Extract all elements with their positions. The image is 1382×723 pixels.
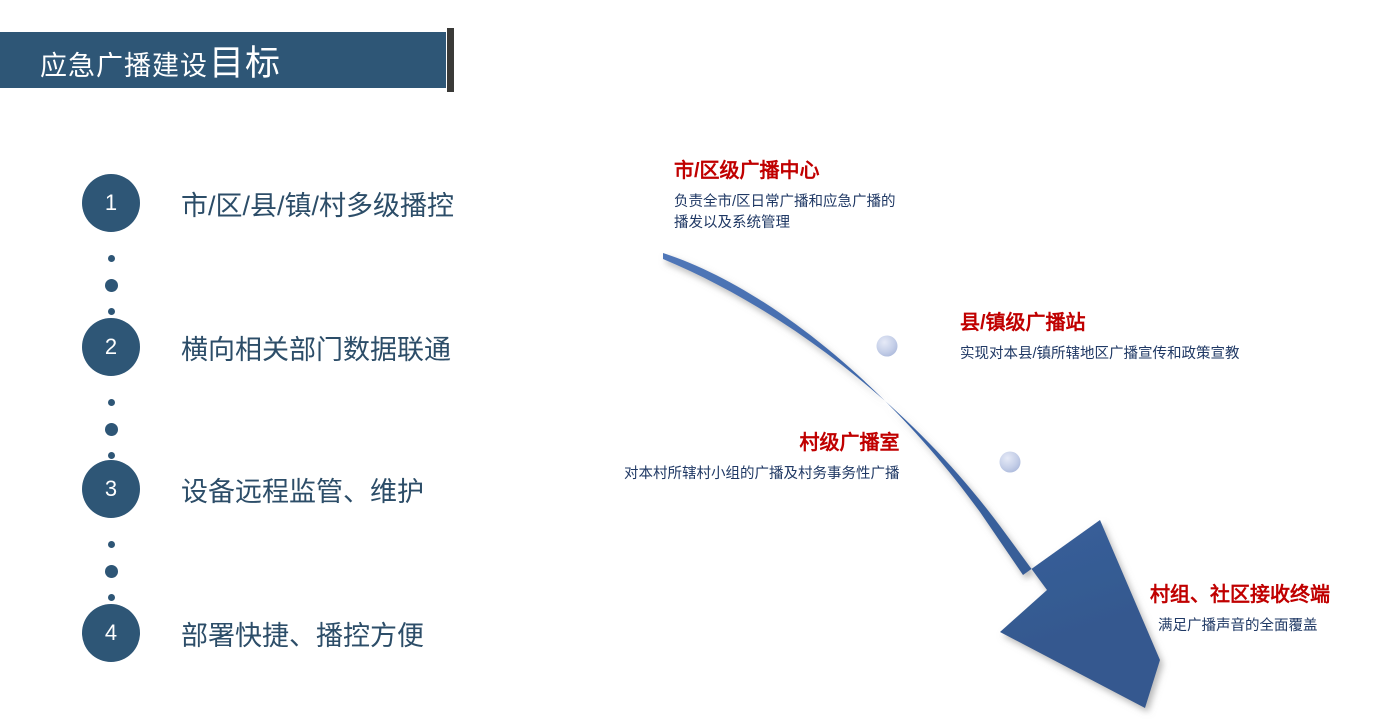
step-number-badge: 2	[82, 318, 140, 376]
step-label: 设备远程监管、维护	[181, 470, 424, 509]
connector-dot	[105, 423, 118, 436]
hierarchy-arrow-diagram: 市/区级广播中心 负责全市/区日常广播和应急广播的 播发以及系统管理 县/镇级广…	[560, 120, 1382, 723]
step-number-badge: 3	[82, 460, 140, 518]
step-label: 部署快捷、播控方便	[181, 614, 424, 653]
node-title: 市/区级广播中心	[674, 158, 896, 184]
step-number-badge: 4	[82, 604, 140, 662]
node-desc-line: 负责全市/区日常广播和应急广播的	[674, 192, 896, 213]
node-title: 村组、社区接收终端	[1150, 582, 1330, 608]
stage-marker-dot	[877, 336, 898, 357]
list-item[interactable]: 4 部署快捷、播控方便	[82, 604, 424, 662]
node-village-room[interactable]: 村级广播室 对本村所辖村小组的广播及村务事务性广播	[624, 430, 900, 485]
node-city-district[interactable]: 市/区级广播中心 负责全市/区日常广播和应急广播的 播发以及系统管理	[674, 158, 896, 234]
connector-dot	[108, 308, 115, 315]
goal-step-list: 1 市/区/县/镇/村多级播控 2 横向相关部门数据联通 3 设备远程监管、维护…	[0, 160, 560, 690]
step-label: 市/区/县/镇/村多级播控	[181, 184, 454, 223]
connector-dot	[108, 452, 115, 459]
connector-dot	[105, 279, 118, 292]
node-desc-line: 对本村所辖村小组的广播及村务事务性广播	[624, 464, 900, 485]
list-item[interactable]: 2 横向相关部门数据联通	[82, 318, 451, 376]
node-title: 县/镇级广播站	[960, 310, 1240, 336]
node-title: 村级广播室	[624, 430, 900, 456]
list-item[interactable]: 3 设备远程监管、维护	[82, 460, 424, 518]
node-desc-line: 实现对本县/镇所辖地区广播宣传和政策宣教	[960, 344, 1240, 365]
connector-dot	[105, 565, 118, 578]
stage-marker-dot	[1000, 452, 1021, 473]
node-county-town[interactable]: 县/镇级广播站 实现对本县/镇所辖地区广播宣传和政策宣教	[960, 310, 1240, 365]
slide-title-prefix: 应急广播建设	[40, 44, 208, 83]
connector-dot	[108, 255, 115, 262]
list-item[interactable]: 1 市/区/县/镇/村多级播控	[82, 174, 454, 232]
connector-dot	[108, 594, 115, 601]
connector-dot	[108, 541, 115, 548]
slide-title: 应急广播建设 目标	[0, 35, 281, 86]
title-accent-bar	[447, 28, 454, 92]
step-number-badge: 1	[82, 174, 140, 232]
slide-title-emphasis: 目标	[209, 35, 281, 86]
node-village-terminal[interactable]: 村组、社区接收终端 满足广播声音的全面覆盖	[1150, 582, 1330, 637]
slide-title-bar: 应急广播建设 目标	[0, 32, 446, 88]
node-desc-line: 播发以及系统管理	[674, 213, 896, 234]
connector-dot	[108, 399, 115, 406]
step-label: 横向相关部门数据联通	[181, 328, 451, 367]
node-desc-line: 满足广播声音的全面覆盖	[1158, 616, 1330, 637]
